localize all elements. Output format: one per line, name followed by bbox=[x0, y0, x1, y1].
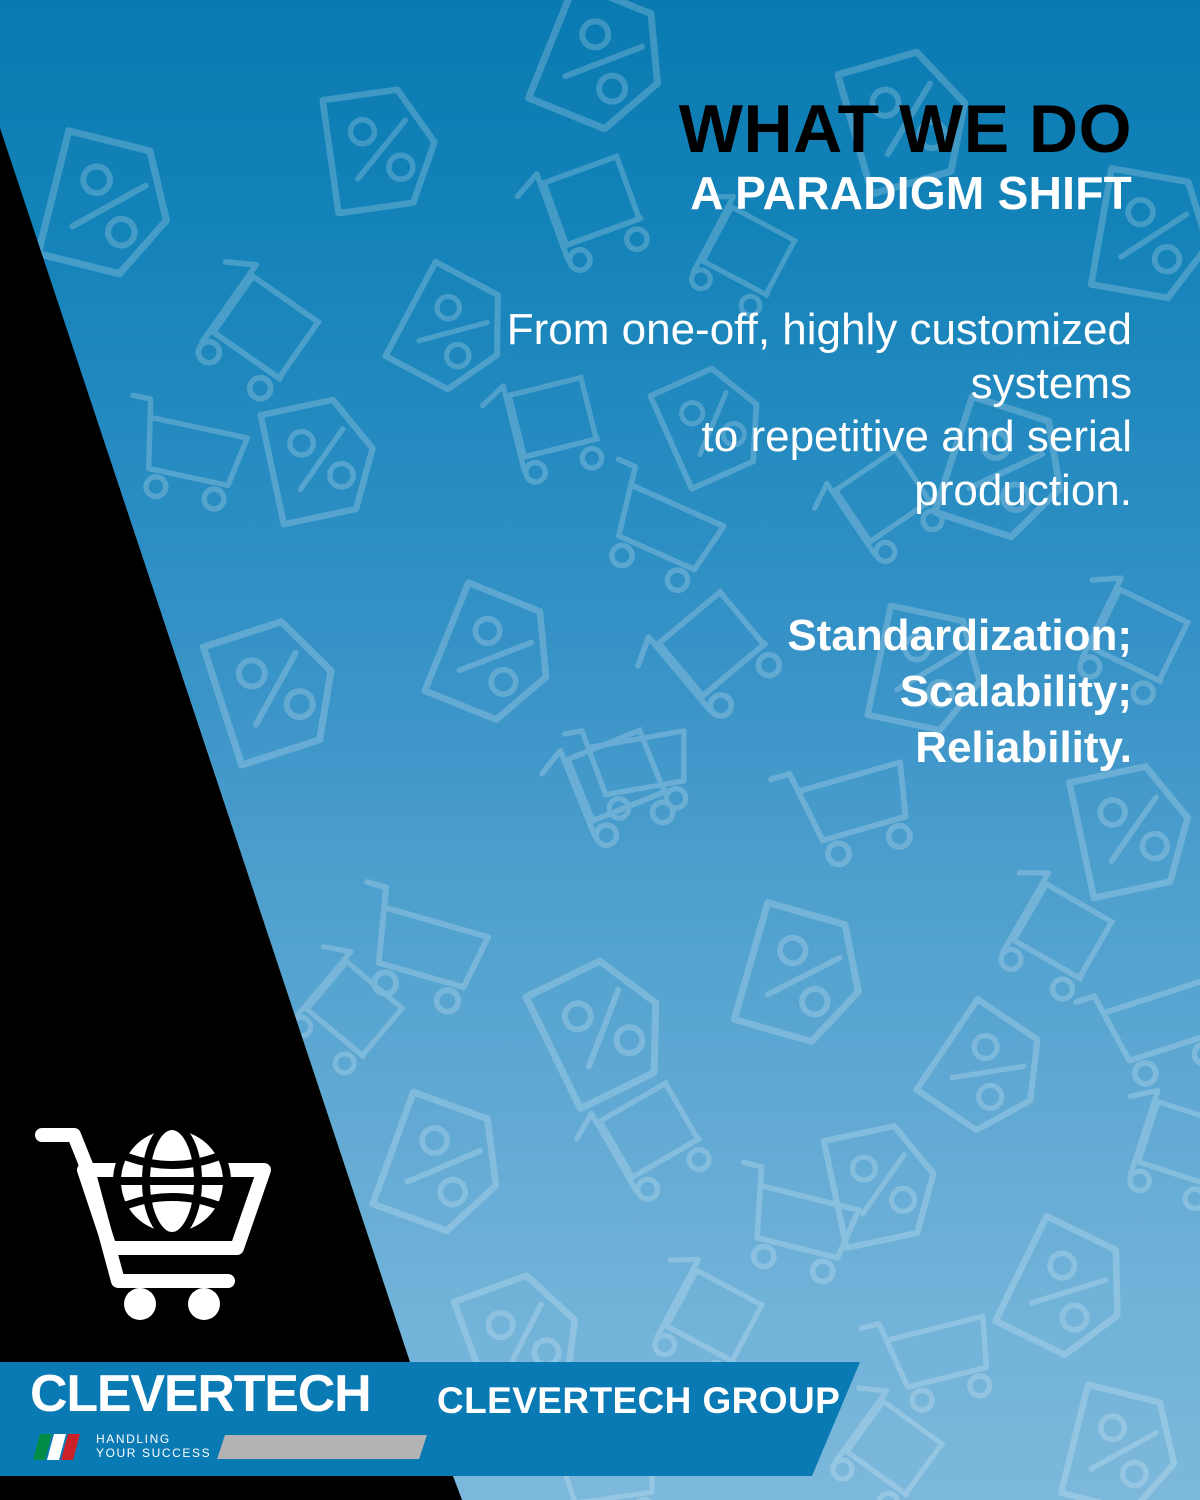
keyword-item: Reliability. bbox=[372, 720, 1132, 776]
page-title: WHAT WE DO bbox=[372, 96, 1132, 163]
page-subtitle: A PARADIGM SHIFT bbox=[372, 169, 1132, 217]
keyword-item: Standardization; bbox=[372, 608, 1132, 664]
body-line: to repetitive and serial bbox=[372, 410, 1132, 464]
shopping-cart-globe-icon bbox=[32, 1118, 282, 1323]
body-line: From one-off, highly customized bbox=[372, 303, 1132, 357]
footer-content: CLEVERTECH HANDLING YOUR SUCCESS CLEVERT… bbox=[0, 1362, 860, 1476]
body-line: systems bbox=[372, 357, 1132, 411]
group-name-label: CLEVERTECH GROUP bbox=[437, 1382, 840, 1419]
logo-tagline-group: HANDLING YOUR SUCCESS bbox=[33, 1432, 423, 1462]
gray-accent-bar bbox=[217, 1435, 427, 1459]
clevertech-logo-wordmark[interactable]: CLEVERTECH bbox=[30, 1368, 370, 1420]
logo-tagline: HANDLING YOUR SUCCESS bbox=[96, 1433, 211, 1461]
keywords-list: Standardization; Scalability; Reliabilit… bbox=[372, 608, 1132, 777]
italian-flag-icon bbox=[33, 1434, 87, 1460]
body-line: production. bbox=[372, 464, 1132, 518]
poster-canvas: WHAT WE DO A PARADIGM SHIFT From one-off… bbox=[0, 0, 1200, 1500]
text-content-block: WHAT WE DO A PARADIGM SHIFT From one-off… bbox=[372, 96, 1132, 777]
body-paragraph: From one-off, highly customized systems … bbox=[372, 303, 1132, 518]
keyword-item: Scalability; bbox=[372, 664, 1132, 720]
